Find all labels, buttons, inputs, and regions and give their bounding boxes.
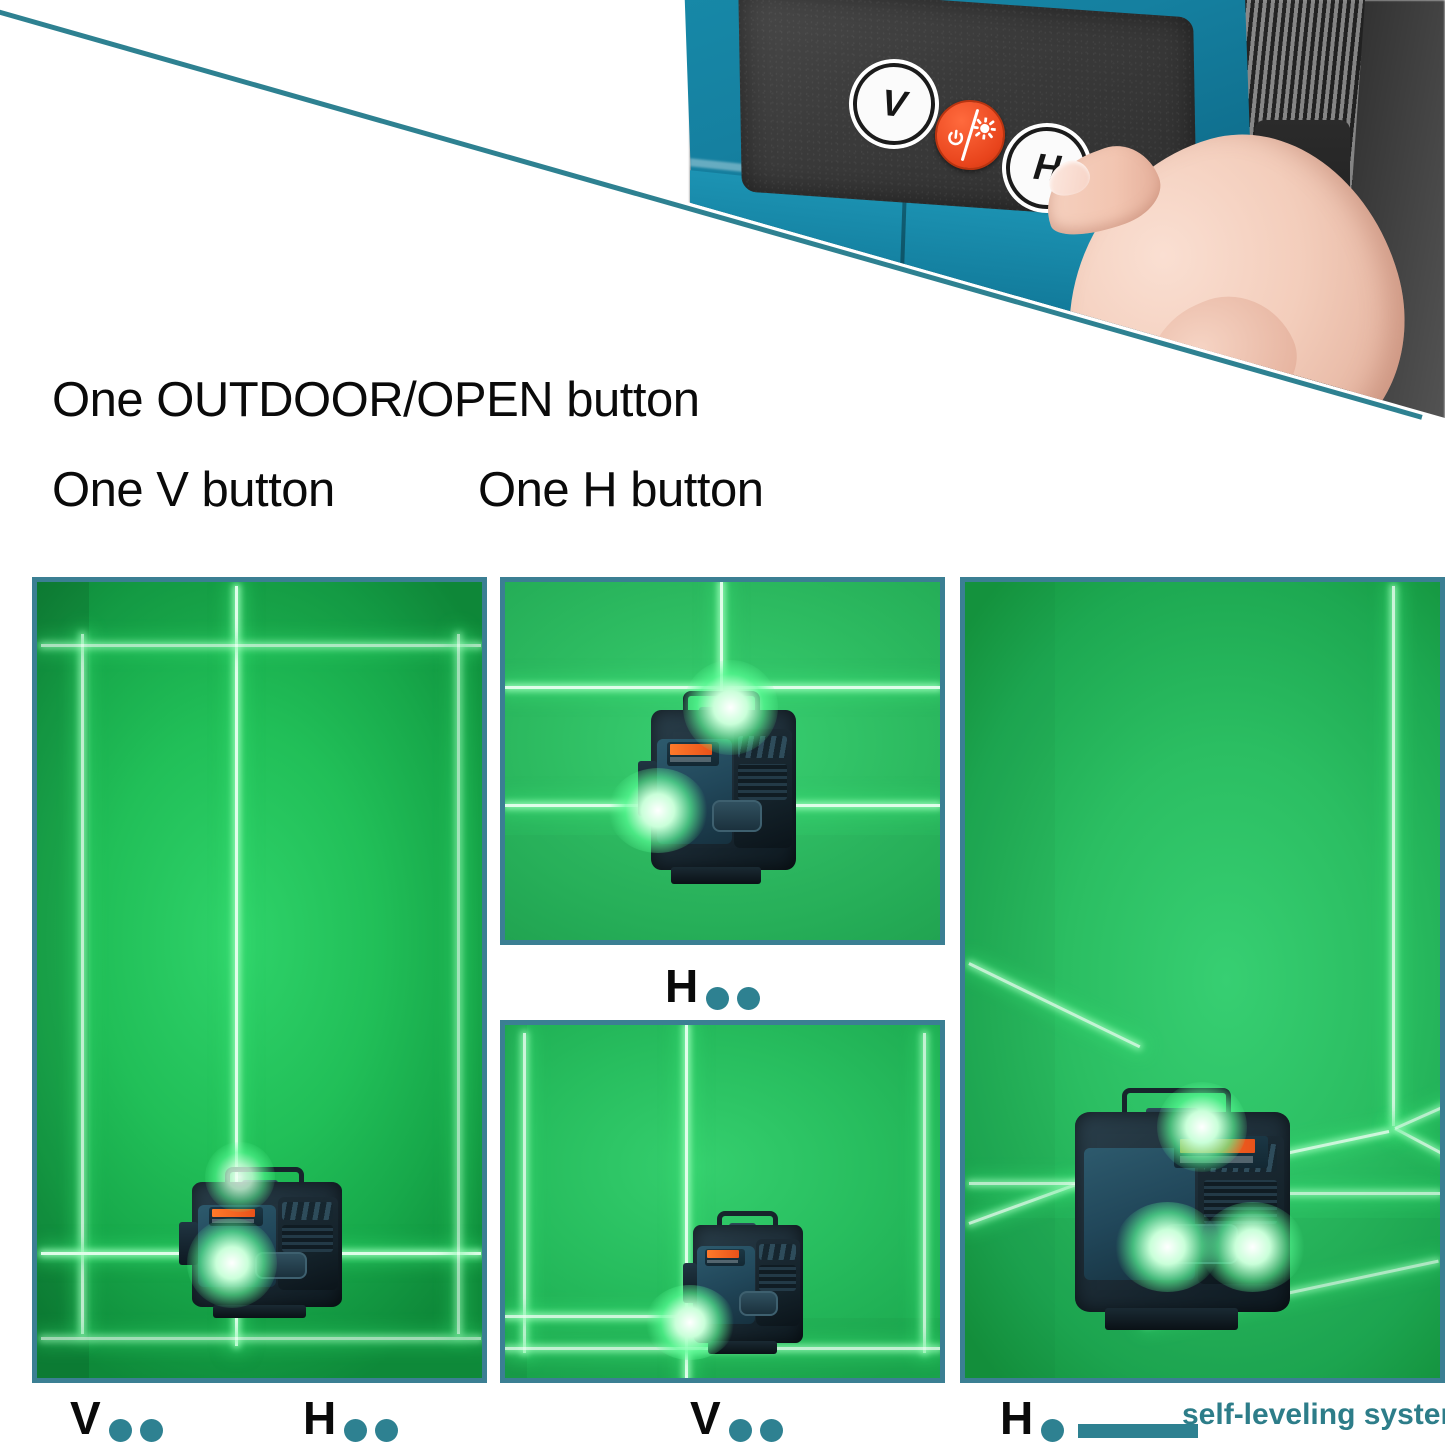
label-midtop-h: H — [665, 960, 760, 1012]
teal-dot-icon — [706, 987, 729, 1010]
device-window — [712, 800, 762, 833]
photo-mid-bottom-vertical — [500, 1020, 945, 1383]
laser-vertical-right-corner — [923, 1033, 926, 1353]
device-grill — [282, 1225, 333, 1253]
device-window — [739, 1291, 778, 1316]
photo-left-room-v-h — [32, 577, 487, 1383]
teal-dot-icon — [760, 1419, 783, 1442]
device-vents — [282, 1202, 333, 1220]
headline-v-button: One V button — [52, 462, 335, 518]
teal-dot-icon — [1041, 1419, 1064, 1442]
ceiling-shade — [37, 582, 482, 642]
device-base — [1105, 1308, 1238, 1330]
device-grill — [759, 1265, 796, 1291]
laser-flare-side — [608, 768, 708, 853]
laser-vertical-corner — [1392, 586, 1395, 1126]
label-bottom-mid-v: V — [690, 1392, 783, 1444]
laser-horizontal-floor — [41, 1337, 481, 1340]
label-letter: H — [1000, 1395, 1033, 1441]
badge-subtext — [707, 1260, 738, 1264]
sunburst-outdoor-icon — [973, 116, 997, 140]
teal-dot-icon — [737, 987, 760, 1010]
laser-vertical-right-corner — [457, 634, 460, 1334]
laser-flare-emitter — [645, 1285, 735, 1360]
headline-outdoor-button: One OUTDOOR/OPEN button — [52, 372, 700, 428]
v-button-label: V — [880, 82, 909, 126]
brand-logo — [707, 1250, 739, 1258]
teal-dot-icon — [729, 1419, 752, 1442]
label-letter: H — [665, 963, 698, 1009]
laser-flare-left — [187, 1218, 277, 1308]
device-grill — [738, 764, 787, 799]
label-bottom-right-h: H — [1000, 1392, 1198, 1444]
laser-horizontal-right — [1265, 1192, 1440, 1195]
laser-vertical-left-corner — [523, 1033, 526, 1353]
teal-dash-icon — [1078, 1424, 1198, 1438]
teal-dot-icon — [375, 1419, 398, 1442]
laser-horizontal-ceiling — [41, 644, 481, 647]
teal-dot-icon — [109, 1419, 132, 1442]
laser-vertical-left-corner — [81, 634, 84, 1334]
label-bottom-left-h: H — [303, 1392, 398, 1444]
device-base — [671, 867, 761, 885]
teal-dot-icon — [140, 1419, 163, 1442]
laser-flare-top — [205, 1142, 275, 1212]
laser-flare-emitter — [683, 660, 778, 755]
power-icon — [945, 128, 967, 150]
label-bottom-left-v: V — [70, 1392, 163, 1444]
self-leveling-caption: self-leveling system — [1182, 1398, 1445, 1432]
device-vents — [759, 1244, 796, 1261]
label-letter: V — [690, 1395, 721, 1441]
badge-subtext — [670, 757, 711, 762]
teal-dot-icon — [344, 1419, 367, 1442]
photo-mid-top-horizontal — [500, 577, 945, 945]
device-brand-badge — [705, 1249, 745, 1267]
photo-right-room-360 — [960, 577, 1445, 1383]
laser-flare-top — [1157, 1082, 1247, 1172]
headline-h-button: One H button — [478, 462, 763, 518]
label-letter: H — [303, 1395, 336, 1441]
laser-flare-center — [1200, 1202, 1305, 1292]
label-letter: V — [70, 1395, 101, 1441]
